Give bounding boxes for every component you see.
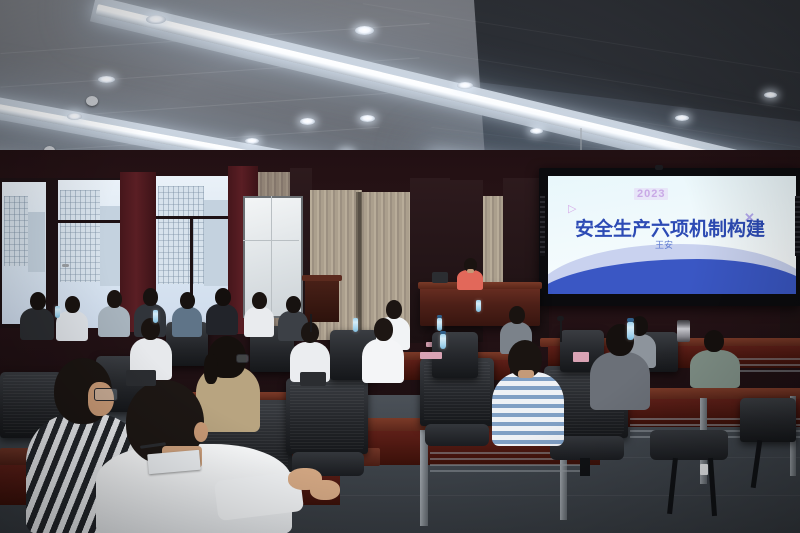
attendee-head [30, 292, 46, 310]
attendee-head [374, 318, 393, 341]
podium-top [302, 275, 342, 281]
attendee [56, 296, 88, 340]
water-bottle [476, 300, 481, 312]
attendee-torso [362, 339, 404, 383]
curtain-fold [356, 192, 362, 338]
chair-seat [425, 424, 489, 446]
laptop [126, 370, 156, 386]
microphone[interactable] [560, 320, 562, 342]
attendee [20, 292, 54, 338]
attendee [690, 330, 740, 386]
chair-leg [580, 458, 590, 476]
water-bottle [55, 306, 60, 318]
downlight [300, 118, 315, 125]
chair-leg [708, 458, 717, 516]
downlight [146, 15, 166, 24]
exterior-building-windows [158, 186, 204, 284]
presenter-torso [457, 270, 483, 290]
attendee-torso [206, 304, 238, 335]
notebook [420, 352, 442, 359]
attendee-torso [56, 311, 88, 341]
microphone-head [557, 316, 564, 321]
downlight [764, 92, 777, 98]
downlight [98, 76, 115, 83]
laptop [300, 372, 326, 386]
chair-seat [650, 430, 728, 460]
conference-room-photo: 2023 ▷ ✕ 安全生产六项机制构建 王安 [0, 0, 800, 533]
screen-speaker-grille [540, 196, 545, 256]
smoke-detector-icon [86, 96, 98, 106]
attendee-torso [590, 352, 650, 410]
water-bottle [437, 318, 442, 331]
chair-leg [667, 458, 678, 514]
attendee-torso [690, 350, 740, 388]
exterior-building [204, 200, 230, 286]
window-mullion [58, 220, 120, 223]
bottle-cap [627, 318, 634, 322]
attendee-torso [244, 307, 274, 337]
slide-year-badge: 2023 [634, 188, 668, 200]
chair[interactable] [650, 430, 746, 533]
thermos-cup [677, 320, 690, 342]
exterior-building-windows [4, 196, 28, 266]
downlight [67, 113, 82, 120]
water-bottle [153, 310, 158, 323]
laptop [432, 272, 448, 283]
attendee-head [180, 292, 195, 309]
attendee-head [704, 330, 724, 352]
attendee-hand [310, 480, 340, 500]
screen-speaker-grille [795, 196, 800, 256]
attendee [244, 292, 274, 336]
downlight [457, 82, 473, 89]
chair-leg [751, 440, 763, 488]
water-bottle [627, 322, 634, 340]
chair[interactable] [740, 398, 800, 492]
attendee-head [143, 288, 158, 306]
attendee [172, 292, 202, 336]
attendee-head [107, 290, 122, 308]
downlight [675, 115, 689, 121]
attendee-torso [20, 308, 54, 340]
attendee-head [65, 296, 80, 313]
window-mullion [156, 216, 230, 219]
notebook [573, 352, 589, 362]
window-handle [62, 264, 69, 267]
bottle-cap [440, 331, 446, 334]
attendee [362, 318, 404, 380]
attendee-head [286, 296, 301, 313]
presenter-neck [467, 269, 474, 273]
attendee-torso [98, 306, 130, 337]
attendee-torso [492, 372, 564, 446]
attendee-head [252, 292, 267, 309]
attendee-torso [172, 307, 202, 337]
attendee-neck [518, 370, 534, 378]
microphone[interactable] [310, 314, 312, 332]
slide-subtitle: 王安 [655, 238, 673, 251]
glasses-icon [236, 354, 249, 363]
downlight [530, 128, 543, 134]
downlight [355, 26, 374, 35]
attendee-gray-suit [590, 324, 650, 408]
attendee-head [386, 300, 402, 319]
attendee-head [215, 288, 231, 306]
slide-content: 2023 ▷ ✕ 安全生产六项机制构建 王安 [548, 176, 796, 294]
presenter [455, 258, 485, 288]
attendee [98, 290, 130, 336]
exterior-building [28, 212, 45, 272]
slide-title: 安全生产六项机制构建 [575, 214, 765, 241]
chair-back [740, 398, 796, 442]
water-bottle [353, 318, 358, 332]
water-bottle [440, 334, 446, 349]
exterior-building [100, 206, 120, 286]
exterior-building-windows [60, 190, 100, 282]
bottle-cap [437, 315, 442, 318]
downlight [360, 115, 375, 122]
downlight [245, 138, 259, 144]
screen-camera-icon [655, 165, 663, 170]
attendee-head [509, 306, 525, 324]
attendee-blue-stripe-polo [492, 340, 564, 444]
attendee-ear [194, 422, 208, 442]
attendee [206, 288, 238, 334]
